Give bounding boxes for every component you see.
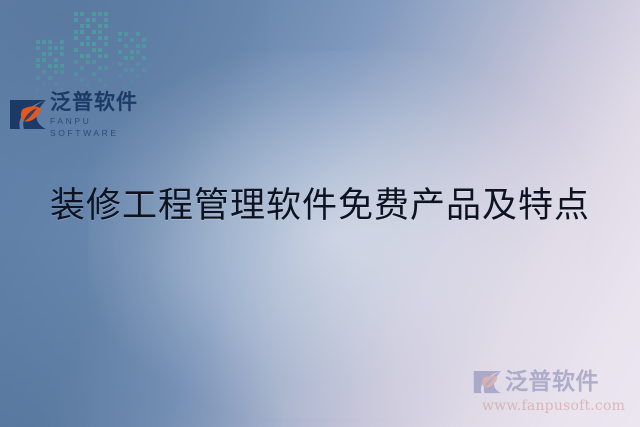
brand-name-en: FANPU SOFTWARE [50, 115, 154, 139]
watermark-url: www.fanpusoft.com [482, 398, 627, 415]
brand-logo: 泛普软件 FANPU SOFTWARE [8, 93, 154, 137]
banner-image: 泛普软件 FANPU SOFTWARE 装修工程管理软件免费产品及特点 泛普软件… [0, 0, 640, 427]
fanpu-watermark-mark-icon [472, 368, 503, 397]
watermark-brand-row: 泛普软件 [472, 368, 627, 397]
pixel-mosaic-icon [36, 2, 148, 94]
brand-name-cn: 泛普软件 [50, 91, 154, 114]
brand-logo-text: 泛普软件 FANPU SOFTWARE [50, 91, 154, 139]
fanpu-logo-mark-icon [8, 96, 48, 134]
watermark-brand-name: 泛普软件 [505, 370, 599, 395]
watermark: 泛普软件 www.fanpusoft.com [472, 368, 627, 415]
page-title: 装修工程管理软件免费产品及特点 [0, 183, 640, 229]
